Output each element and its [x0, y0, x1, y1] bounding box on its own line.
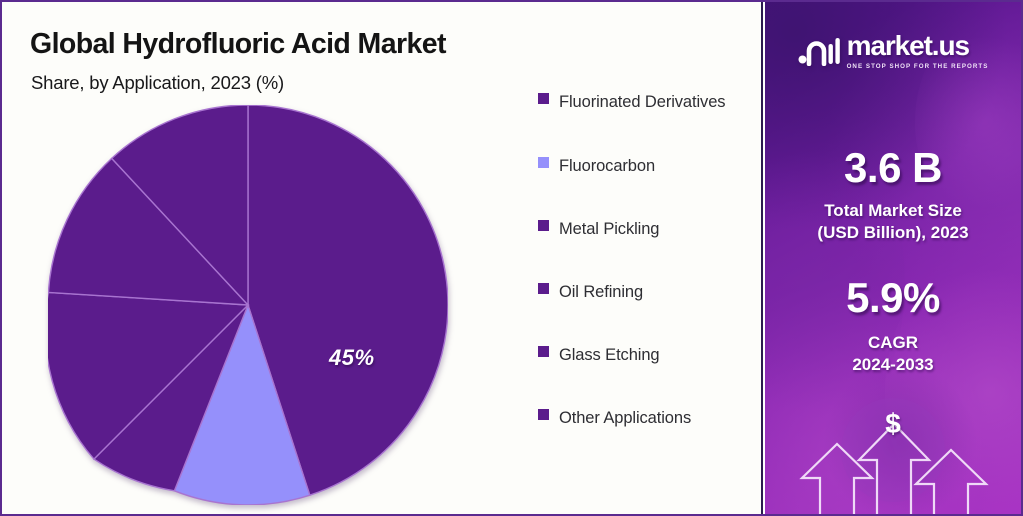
- legend-item-label: Metal Pickling: [559, 215, 659, 244]
- page-title: Global Hydrofluoric Acid Market: [30, 28, 446, 61]
- chart-panel: Global Hydrofluoric Acid Market Share, b…: [2, 2, 763, 514]
- legend-item-fluorinated-derivatives[interactable]: Fluorinated Derivatives: [538, 88, 725, 117]
- stat-caption-line-2: 2024-2033: [852, 355, 933, 374]
- brand-wordmark: market.us: [847, 32, 969, 60]
- pie-chart: 45%: [48, 105, 448, 505]
- brand-panel: market.us ONE STOP SHOP FOR THE REPORTS …: [765, 2, 1021, 514]
- stat-caption-line-2: (USD Billion), 2023: [817, 223, 968, 242]
- pie-chart-svg: [48, 105, 448, 505]
- legend-item-label: Other Applications: [559, 404, 691, 433]
- legend-item-glass-etching[interactable]: Glass Etching: [538, 341, 660, 370]
- stat-market-size-caption: Total Market Size (USD Billion), 2023: [765, 200, 1021, 244]
- stat-cagr-caption: CAGR 2024-2033: [765, 332, 1021, 376]
- dollar-sign-icon: $: [765, 408, 1021, 440]
- market-us-logo-icon: [798, 36, 840, 66]
- legend-swatch-icon: [538, 346, 549, 357]
- legend-item-label: Fluorocarbon: [559, 152, 655, 181]
- legend-item-fluorocarbon[interactable]: Fluorocarbon: [538, 152, 655, 181]
- legend-item-label: Glass Etching: [559, 341, 660, 370]
- brand-tagline: ONE STOP SHOP FOR THE REPORTS: [847, 63, 989, 70]
- stat-caption-line-1: CAGR: [868, 333, 918, 352]
- infographic-root: Global Hydrofluoric Acid Market Share, b…: [0, 0, 1023, 516]
- legend-item-metal-pickling[interactable]: Metal Pickling: [538, 215, 659, 244]
- chart-subtitle: Share, by Application, 2023 (%): [31, 72, 284, 94]
- legend-swatch-icon: [538, 409, 549, 420]
- stat-caption-line-1: Total Market Size: [824, 201, 962, 220]
- brand-logo[interactable]: market.us ONE STOP SHOP FOR THE REPORTS: [765, 32, 1021, 70]
- stat-cagr-value: 5.9%: [765, 274, 1021, 322]
- legend-item-label: Oil Refining: [559, 278, 643, 307]
- brand-logo-text: market.us ONE STOP SHOP FOR THE REPORTS: [847, 32, 989, 70]
- stat-market-size-value: 3.6 B: [765, 144, 1021, 192]
- legend-swatch-icon: [538, 220, 549, 231]
- legend-swatch-icon: [538, 283, 549, 294]
- legend-item-label: Fluorinated Derivatives: [559, 88, 725, 117]
- legend-item-oil-refining[interactable]: Oil Refining: [538, 278, 643, 307]
- legend-item-other-applications[interactable]: Other Applications: [538, 404, 691, 433]
- legend-swatch-icon: [538, 157, 549, 168]
- legend-swatch-icon: [538, 93, 549, 104]
